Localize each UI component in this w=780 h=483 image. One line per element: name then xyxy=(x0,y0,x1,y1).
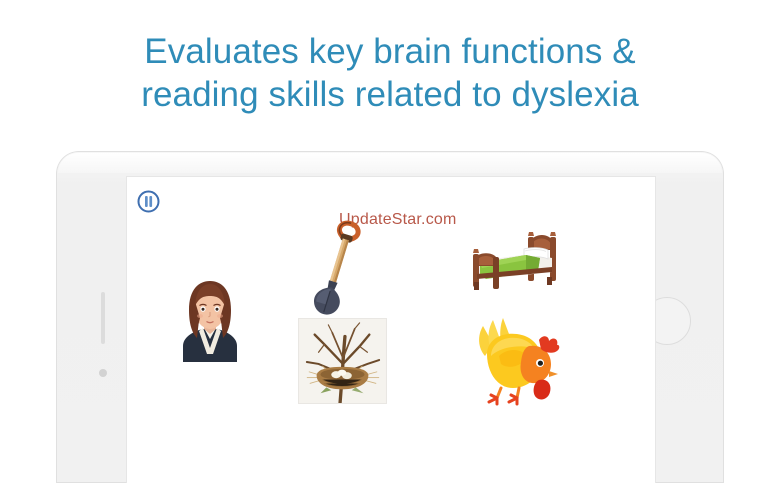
shovel-icon xyxy=(305,216,370,316)
chicken-icon xyxy=(467,314,562,407)
device-top-highlight xyxy=(58,153,722,173)
tablet-screen: UpdateStar.com xyxy=(126,176,656,483)
pause-icon xyxy=(137,190,160,213)
page-title: Evaluates key brain functions & reading … xyxy=(0,30,780,116)
tablet-device: UpdateStar.com xyxy=(57,152,723,482)
woman-icon xyxy=(177,276,243,362)
camera-icon xyxy=(99,369,107,377)
nest-photo xyxy=(298,318,387,404)
picture-chicken[interactable] xyxy=(467,314,562,407)
pause-button[interactable] xyxy=(137,190,160,213)
picture-nest[interactable] xyxy=(298,318,387,404)
picture-shovel[interactable] xyxy=(305,216,370,316)
picture-woman[interactable] xyxy=(177,276,243,362)
picture-bed[interactable] xyxy=(468,227,560,292)
speaker-slot xyxy=(101,292,105,344)
bed-icon xyxy=(468,227,560,292)
